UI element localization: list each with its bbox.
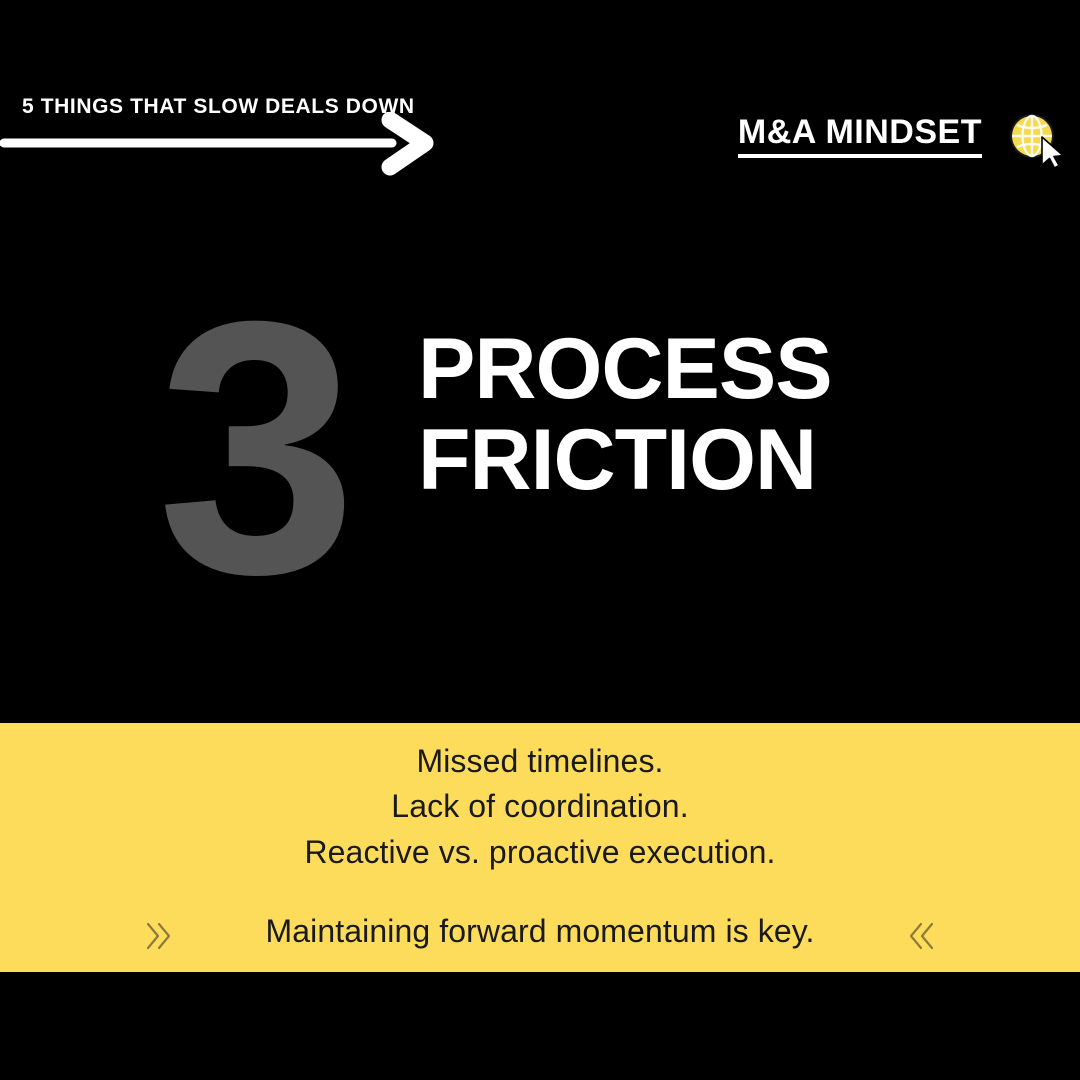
highlight-band: Missed timelines. Lack of coordination. … <box>0 723 1080 972</box>
closing-statement-text: Maintaining forward momentum is key. <box>266 913 815 950</box>
chevron-double-right-icon <box>134 913 180 959</box>
brand-name-text: M&A MINDSET <box>738 115 982 158</box>
arrow-right-icon <box>0 112 440 178</box>
slide-number: 3 <box>140 268 370 628</box>
globe-icon <box>1006 111 1068 169</box>
slide-canvas: 5 THINGS THAT SLOW DEALS DOWN M&A MINDSE… <box>0 0 1080 1080</box>
title-line-2: FRICTION <box>418 415 1018 506</box>
body-line: Reactive vs. proactive execution. <box>0 830 1080 875</box>
title-line-1: PROCESS <box>418 324 1018 415</box>
chevron-double-left-icon <box>900 913 946 959</box>
page-title: PROCESS FRICTION <box>418 324 1018 506</box>
closing-statement-row: Maintaining forward momentum is key. <box>0 913 1080 950</box>
brand-lockup[interactable]: M&A MINDSET <box>738 115 982 158</box>
body-line: Lack of coordination. <box>0 784 1080 829</box>
body-copy-list: Missed timelines. Lack of coordination. … <box>0 739 1080 875</box>
body-line: Missed timelines. <box>0 739 1080 784</box>
